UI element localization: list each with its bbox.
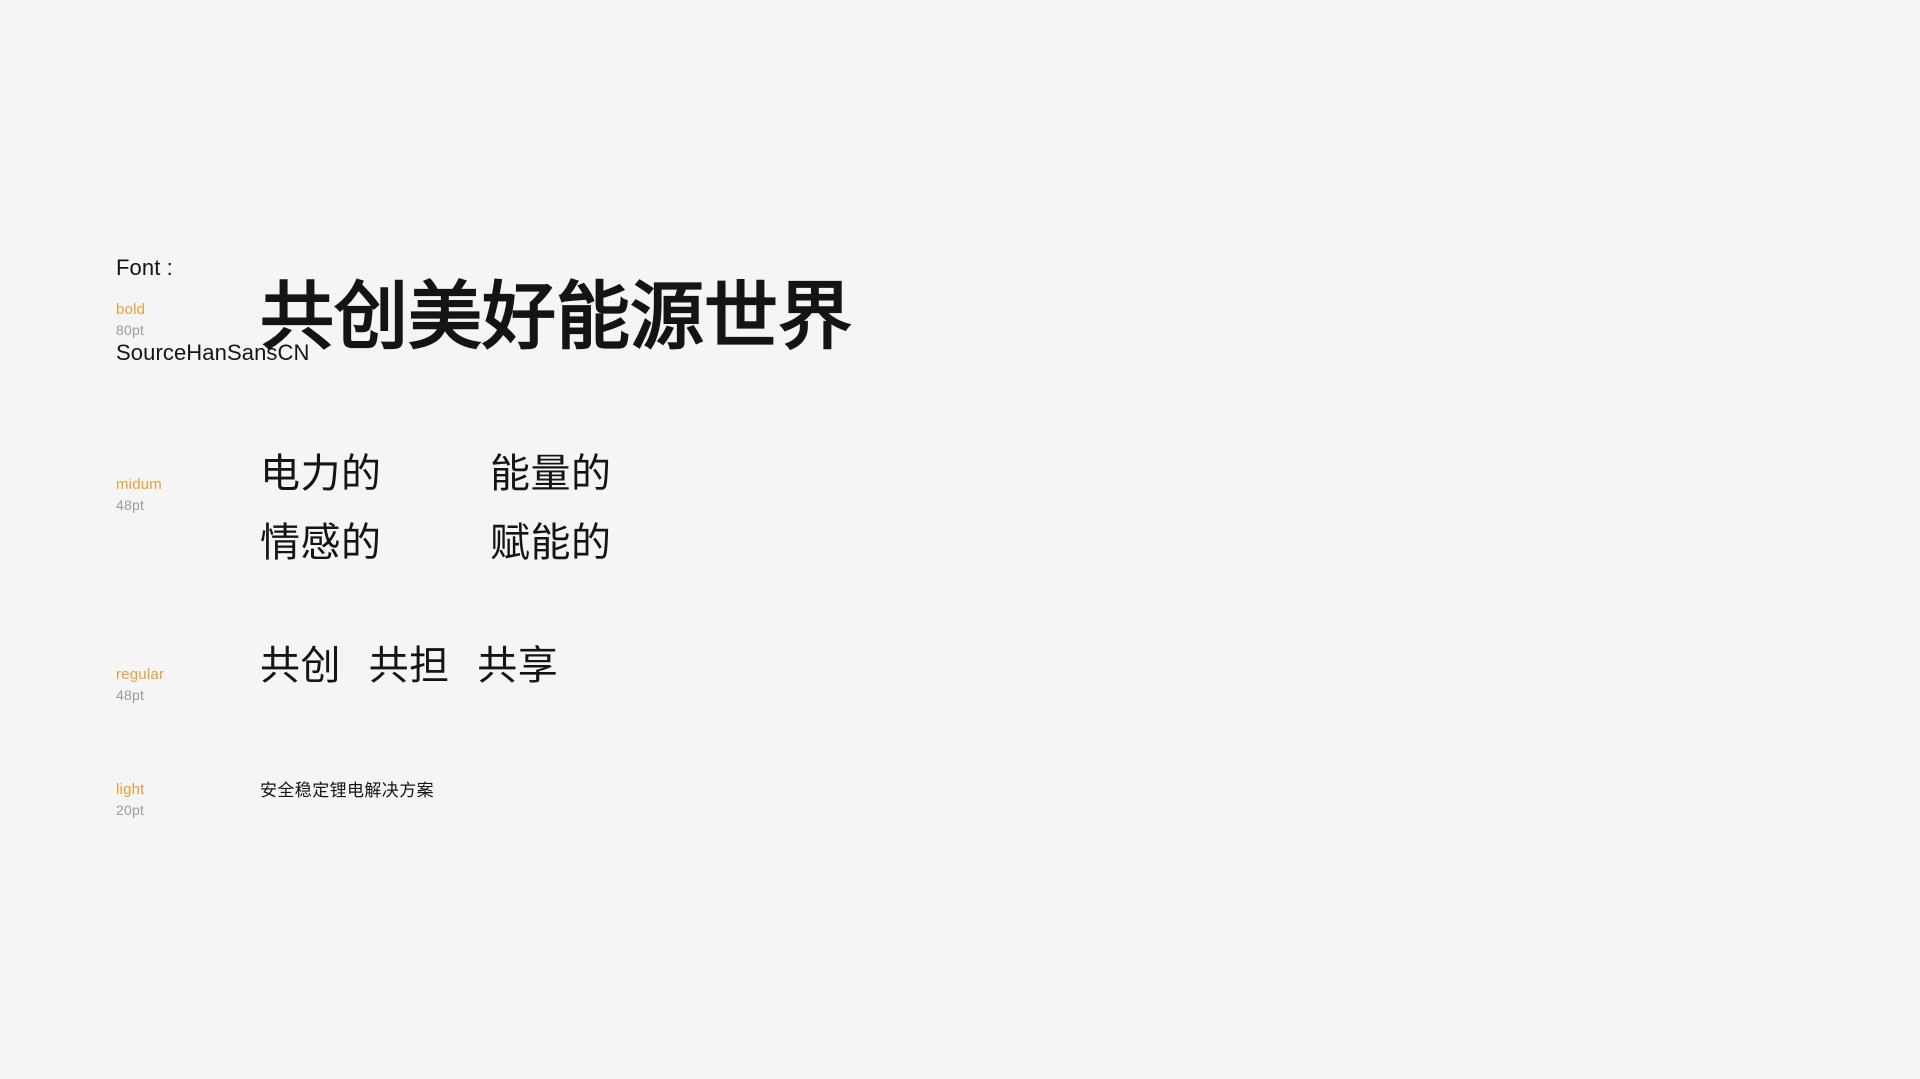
chinese-regular-weight-label: regular xyxy=(116,665,246,685)
chinese-medium-word-line: 电力的 能量的 xyxy=(260,451,720,498)
english-font-column: Font : Rany Bold 80pt Creating the world… xyxy=(960,0,1920,1079)
chinese-regular-sample: 共创 共担 共享 xyxy=(260,643,558,689)
chinese-medium-word: 情感的 xyxy=(260,520,490,567)
chinese-regular-size-label: 48pt xyxy=(116,685,246,706)
chinese-regular-row: regular 48pt 共创 共担 共享 xyxy=(116,663,558,706)
chinese-medium-word-line: 情感的 赋能的 xyxy=(260,520,720,567)
chinese-medium-sample-grid: 电力的 能量的 情感的 赋能的 xyxy=(260,451,720,567)
chinese-bold-row: bold 80pt 共创美好能源世界 xyxy=(116,298,852,359)
chinese-regular-term: 共担 xyxy=(369,643,450,689)
typography-specimen-page: Font : SourceHanSansCN bold 80pt 共创美好能源世… xyxy=(0,0,1920,1079)
chinese-bold-sample: 共创美好能源世界 xyxy=(260,276,852,359)
chinese-light-size-label: 20pt xyxy=(116,800,246,821)
chinese-medium-weight-label: midum xyxy=(116,475,246,495)
chinese-regular-term: 共创 xyxy=(260,643,341,689)
chinese-medium-word: 赋能的 xyxy=(490,520,720,567)
chinese-bold-meta: bold 80pt xyxy=(116,298,246,341)
chinese-regular-meta: regular 48pt xyxy=(116,663,246,706)
chinese-medium-size-label: 48pt xyxy=(116,495,246,516)
chinese-bold-size-label: 80pt xyxy=(116,320,246,341)
chinese-medium-row: midum 48pt 电力的 能量的 情感的 赋能的 xyxy=(116,473,720,567)
chinese-medium-word: 电力的 xyxy=(260,451,490,498)
chinese-bold-weight-label: bold xyxy=(116,300,246,320)
chinese-light-meta: light 20pt xyxy=(116,778,246,821)
chinese-light-weight-label: light xyxy=(116,780,246,800)
chinese-medium-word: 能量的 xyxy=(490,451,720,498)
chinese-regular-term: 共享 xyxy=(477,643,558,689)
chinese-medium-meta: midum 48pt xyxy=(116,473,246,516)
chinese-light-row: light 20pt 安全稳定锂电解决方案 xyxy=(116,778,434,821)
chinese-light-sample: 安全稳定锂电解决方案 xyxy=(260,779,434,803)
chinese-font-column: Font : SourceHanSansCN bold 80pt 共创美好能源世… xyxy=(0,0,960,1079)
